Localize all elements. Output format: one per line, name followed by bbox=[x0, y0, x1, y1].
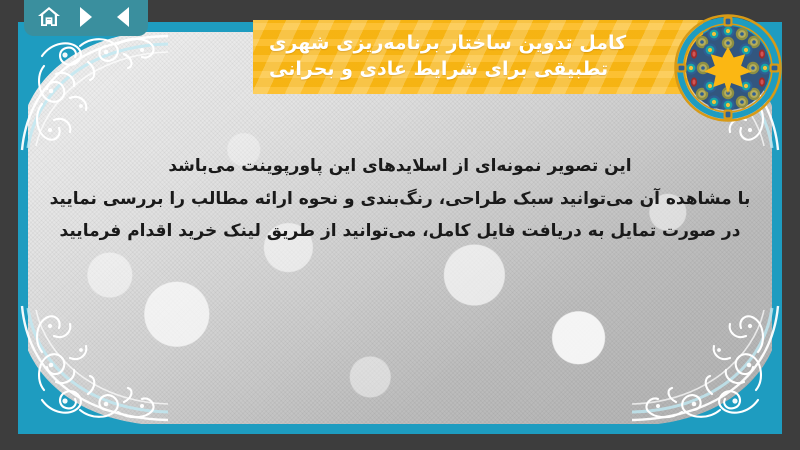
slide-body-text: این تصویر نمونه‌ای از اسلایدهای این پاور… bbox=[48, 150, 752, 248]
home-icon bbox=[37, 6, 61, 28]
navigation-bar bbox=[24, 0, 148, 36]
banner-accent-bar bbox=[703, 20, 719, 94]
home-button[interactable] bbox=[36, 5, 62, 29]
slide-title-banner: کامل تدوین ساختار برنامه‌ریزی شهری تطبیق… bbox=[253, 20, 719, 94]
forward-button[interactable] bbox=[73, 5, 99, 29]
body-line-3: در صورت تمایل به دریافت فایل کامل، می‌تو… bbox=[48, 215, 752, 248]
back-button[interactable] bbox=[110, 5, 136, 29]
forward-triangle-icon bbox=[76, 6, 96, 28]
body-line-1: این تصویر نمونه‌ای از اسلایدهای این پاور… bbox=[48, 150, 752, 183]
banner-body: کامل تدوین ساختار برنامه‌ریزی شهری تطبیق… bbox=[253, 20, 703, 94]
slide-preview-window: این تصویر نمونه‌ای از اسلایدهای این پاور… bbox=[0, 0, 800, 450]
body-line-2: با مشاهده آن می‌توانید سبک طراحی، رنگ‌بن… bbox=[48, 183, 752, 216]
title-line-2: تطبیقی برای شرایط عادی و بحرانی bbox=[269, 56, 608, 82]
title-line-1: کامل تدوین ساختار برنامه‌ریزی شهری bbox=[269, 30, 626, 56]
back-triangle-icon bbox=[113, 6, 133, 28]
